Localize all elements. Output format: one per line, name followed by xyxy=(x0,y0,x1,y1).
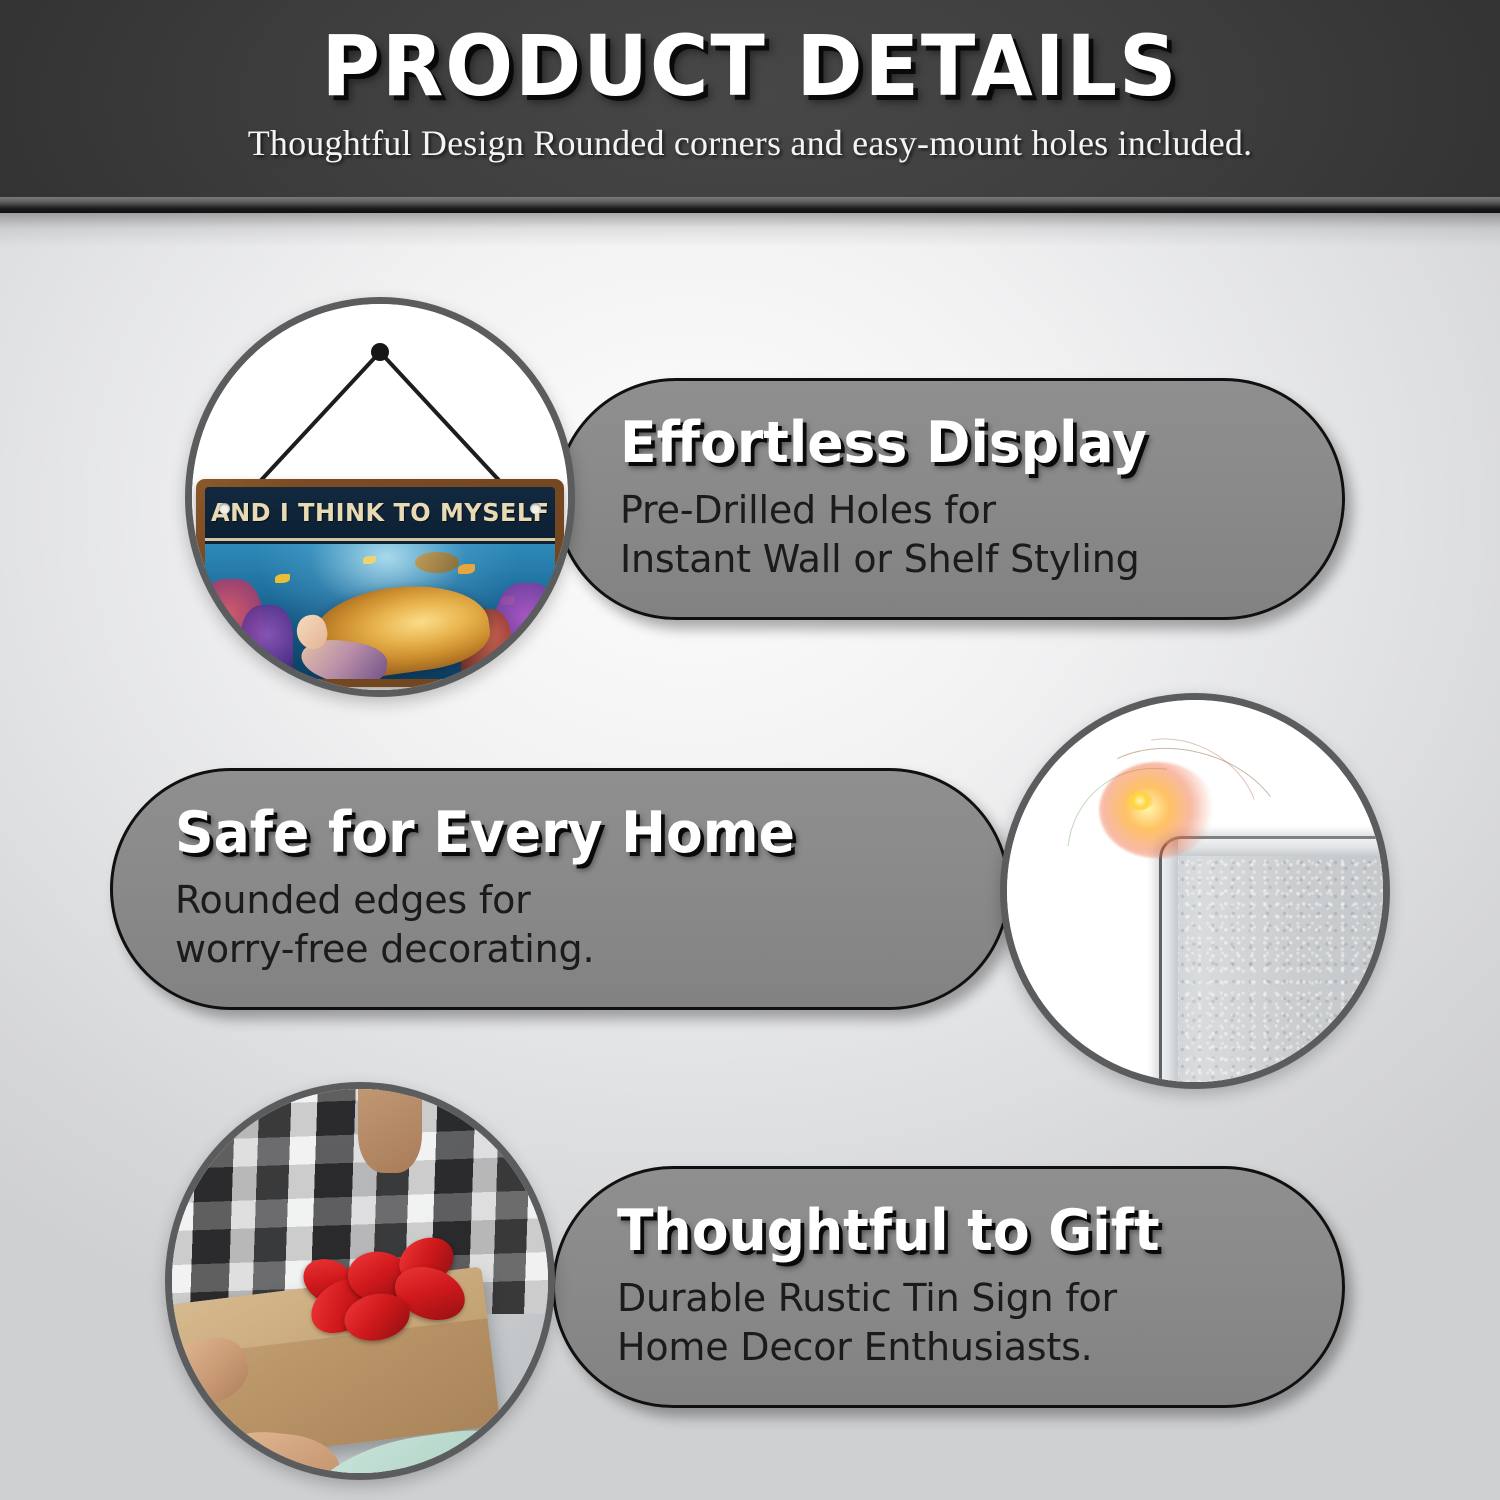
gift-handoff-photo xyxy=(165,1082,555,1480)
rounded-corner-macro-photo xyxy=(1000,693,1390,1089)
mount-hole-left-icon xyxy=(219,503,230,514)
metal-sign-panel xyxy=(1159,836,1383,1082)
hanging-tin-sign-photo: AND I THINK TO MYSELF xyxy=(185,297,575,697)
fish-icon xyxy=(275,574,290,583)
fish-icon xyxy=(363,556,376,564)
product-details-infographic: PRODUCT DETAILS Thoughtful Design Rounde… xyxy=(0,0,1500,1500)
feature-body-line-2: Home Decor Enthusiasts. xyxy=(617,1323,1272,1372)
page-title: PRODUCT DETAILS xyxy=(322,24,1179,108)
feature-heading: Effortless Display xyxy=(620,414,1233,472)
tin-sign-text: AND I THINK TO MYSELF xyxy=(211,498,549,527)
coral-icon xyxy=(241,605,293,679)
feature-body-line-1: Pre-Drilled Holes for xyxy=(620,486,1272,535)
spark-core-icon xyxy=(1127,792,1153,810)
tin-sign-banner: AND I THINK TO MYSELF xyxy=(205,487,555,541)
feature-body: Durable Rustic Tin Sign for Home Decor E… xyxy=(617,1274,1272,1373)
red-ribbon-bow xyxy=(292,1228,482,1366)
rounded-corner-outline xyxy=(1159,836,1383,1082)
turtle-icon xyxy=(415,552,459,573)
feature-card-safe-for-every-home: Safe for Every Home Rounded edges for wo… xyxy=(110,768,1010,1010)
mount-hole-right-icon xyxy=(530,503,541,514)
header-shadow-gradient xyxy=(0,213,1500,247)
header-banner: PRODUCT DETAILS Thoughtful Design Rounde… xyxy=(0,0,1500,213)
spark-glow-icon xyxy=(1099,762,1215,858)
feature-body-line-1: Durable Rustic Tin Sign for xyxy=(617,1274,1272,1323)
underwater-scene xyxy=(205,544,555,679)
feature-body: Rounded edges for worry-free decorating. xyxy=(175,876,937,975)
feature-heading: Thoughtful to Gift xyxy=(617,1202,1233,1260)
feature-body-line-1: Rounded edges for xyxy=(175,876,937,925)
header-bottom-edge xyxy=(0,197,1500,213)
feature-heading: Safe for Every Home xyxy=(175,804,891,862)
person-neck xyxy=(358,1089,422,1173)
tin-sign-plate: AND I THINK TO MYSELF xyxy=(196,479,564,687)
feature-card-thoughtful-to-gift: Thoughtful to Gift Durable Rustic Tin Si… xyxy=(552,1166,1345,1408)
page-subtitle: Thoughtful Design Rounded corners and ea… xyxy=(248,124,1253,164)
fish-icon xyxy=(458,564,475,574)
feature-body-line-2: worry-free decorating. xyxy=(175,925,937,974)
feature-card-effortless-display: Effortless Display Pre-Drilled Holes for… xyxy=(555,378,1345,620)
feature-body-line-2: Instant Wall or Shelf Styling xyxy=(620,535,1272,584)
feature-body: Pre-Drilled Holes for Instant Wall or Sh… xyxy=(620,486,1272,585)
